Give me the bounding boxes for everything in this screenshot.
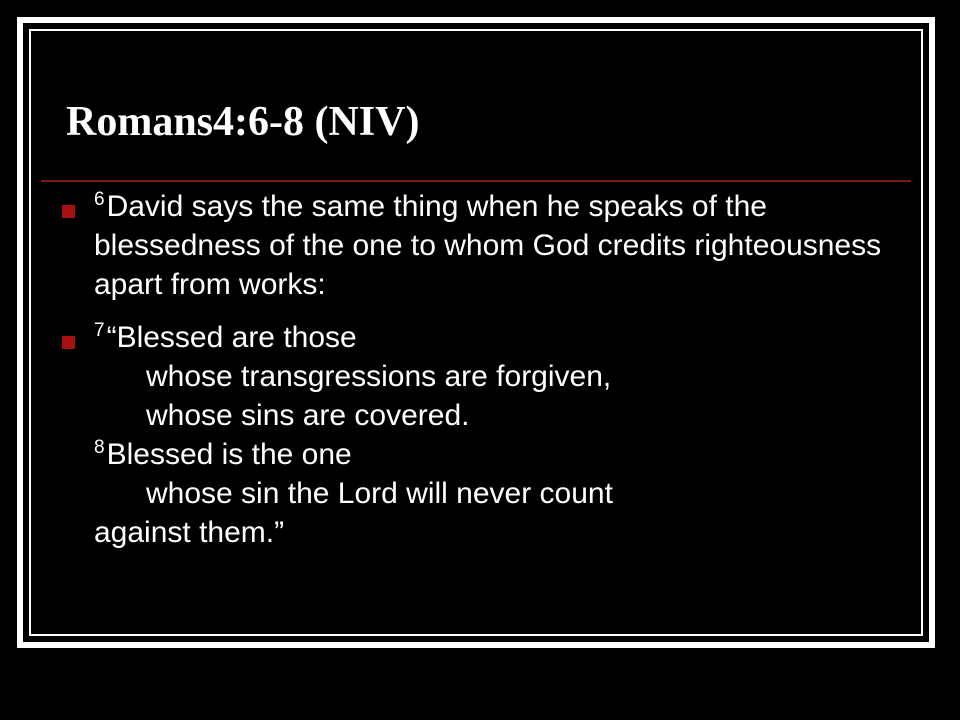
- verse-line: “Blessed are those: [107, 321, 357, 354]
- verse-line: Blessed is the one: [107, 438, 352, 471]
- verse-paragraph: 7“Blessed are those whose transgressions…: [94, 318, 917, 552]
- scripture-body: 6David says the same thing when he speak…: [41, 187, 917, 552]
- verse-line: David says the same thing when he speaks…: [94, 190, 881, 301]
- verse-number: 6: [94, 189, 107, 210]
- list-item: 7“Blessed are those whose transgressions…: [41, 318, 917, 552]
- verse-line: whose sin the Lord will never count: [94, 474, 917, 513]
- slide-content: Romans4:6-8 (NIV) 6David says the same t…: [35, 35, 917, 630]
- verse-line-group: 8Blessed is the one: [94, 435, 917, 474]
- verse-number: 7: [94, 320, 107, 341]
- list-item: 6David says the same thing when he speak…: [41, 187, 917, 304]
- verse-line: whose transgressions are forgiven,: [94, 357, 917, 396]
- square-bullet-icon: [62, 336, 75, 349]
- verse-line: against them.”: [94, 513, 917, 552]
- square-bullet-icon: [62, 205, 75, 218]
- verse-number: 8: [94, 437, 107, 458]
- title-divider: [41, 180, 911, 182]
- verse-paragraph: 6David says the same thing when he speak…: [94, 187, 917, 304]
- verse-line: whose sins are covered.: [94, 396, 917, 435]
- page-title: Romans4:6-8 (NIV): [66, 97, 419, 147]
- presentation-slide: Romans4:6-8 (NIV) 6David says the same t…: [0, 0, 960, 720]
